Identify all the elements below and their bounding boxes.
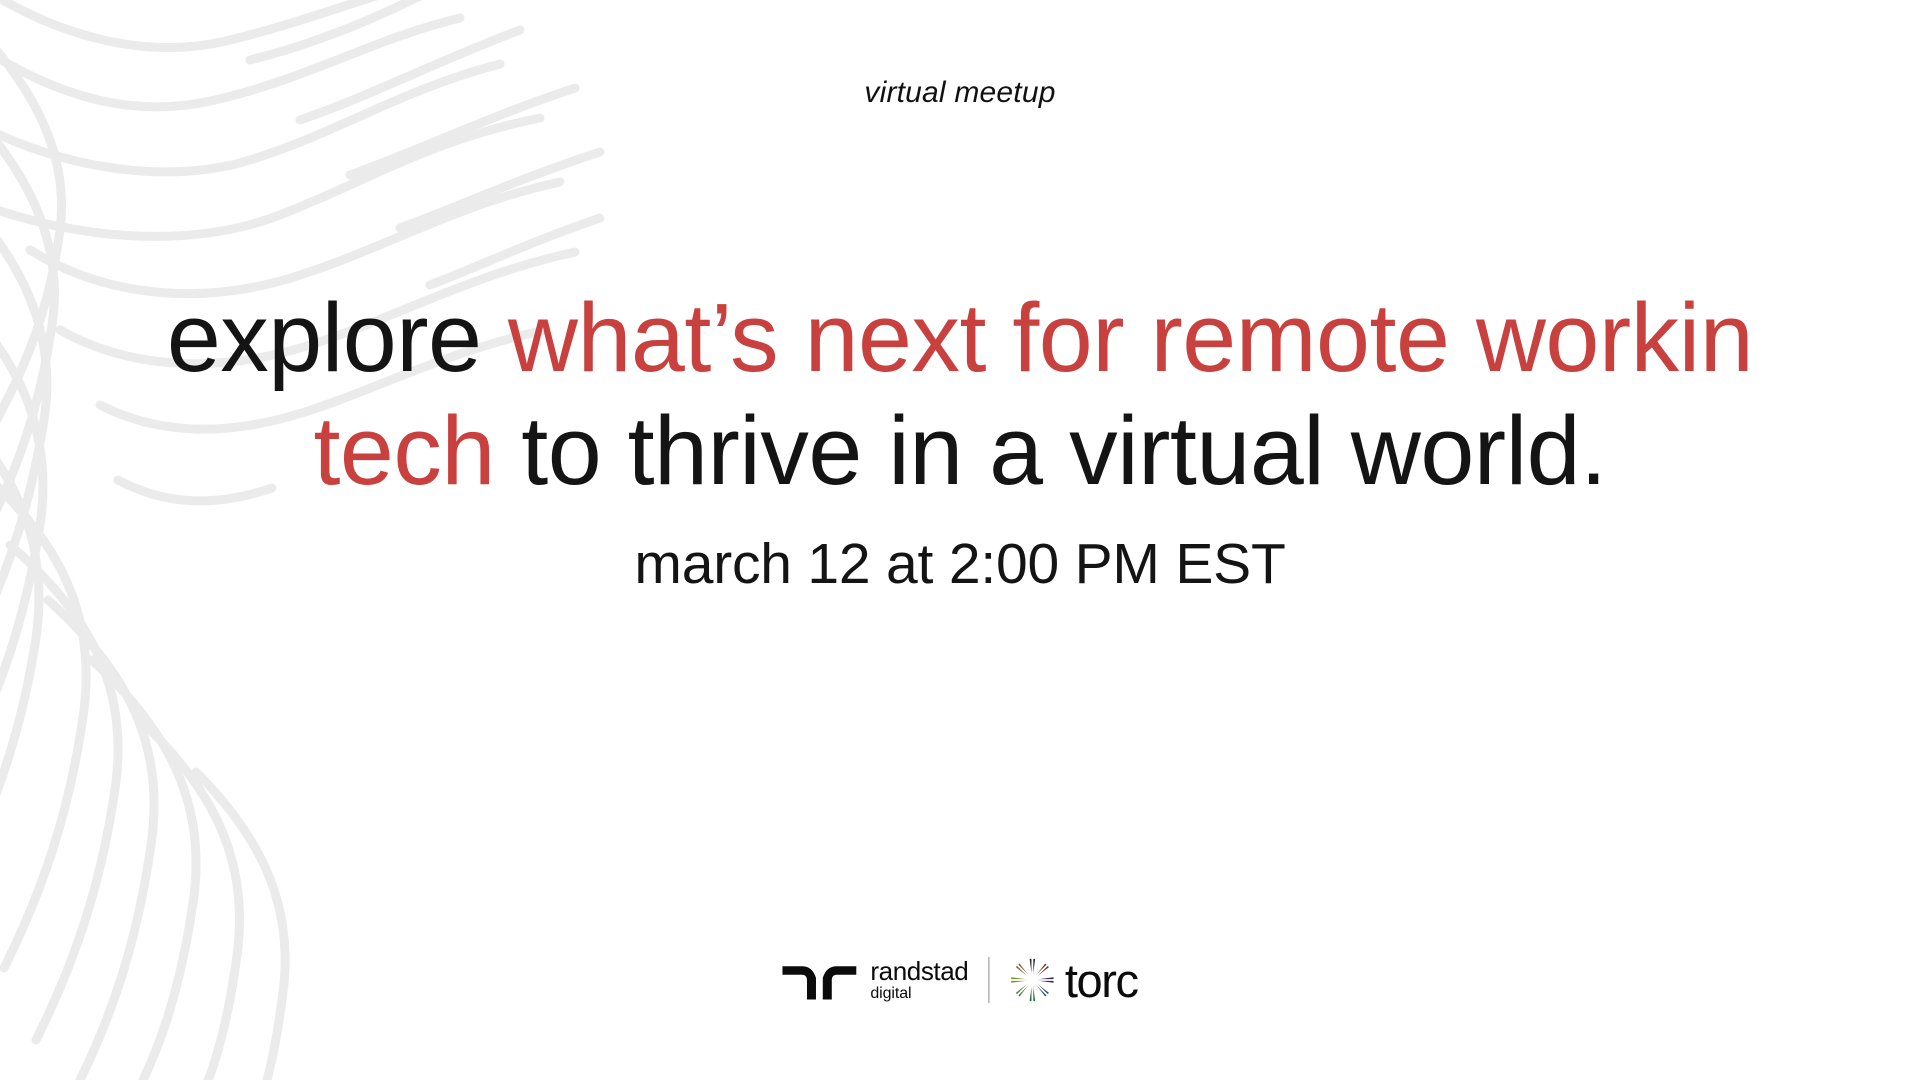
headline-line1-accent: what’s next for remote work [508,283,1679,392]
headline-line1-black: explore [167,283,508,392]
headline: explore what’s next for remote workin te… [80,282,1840,507]
presentation-slide: virtual meetup explore what’s next for r… [0,0,1920,1080]
slide-content: virtual meetup explore what’s next for r… [0,0,1920,1080]
eyebrow-label: virtual meetup [864,78,1055,108]
headline-line2-black: to thrive in a virtual world. [495,396,1607,505]
event-datetime: march 12 at 2:00 PM EST [634,533,1285,596]
